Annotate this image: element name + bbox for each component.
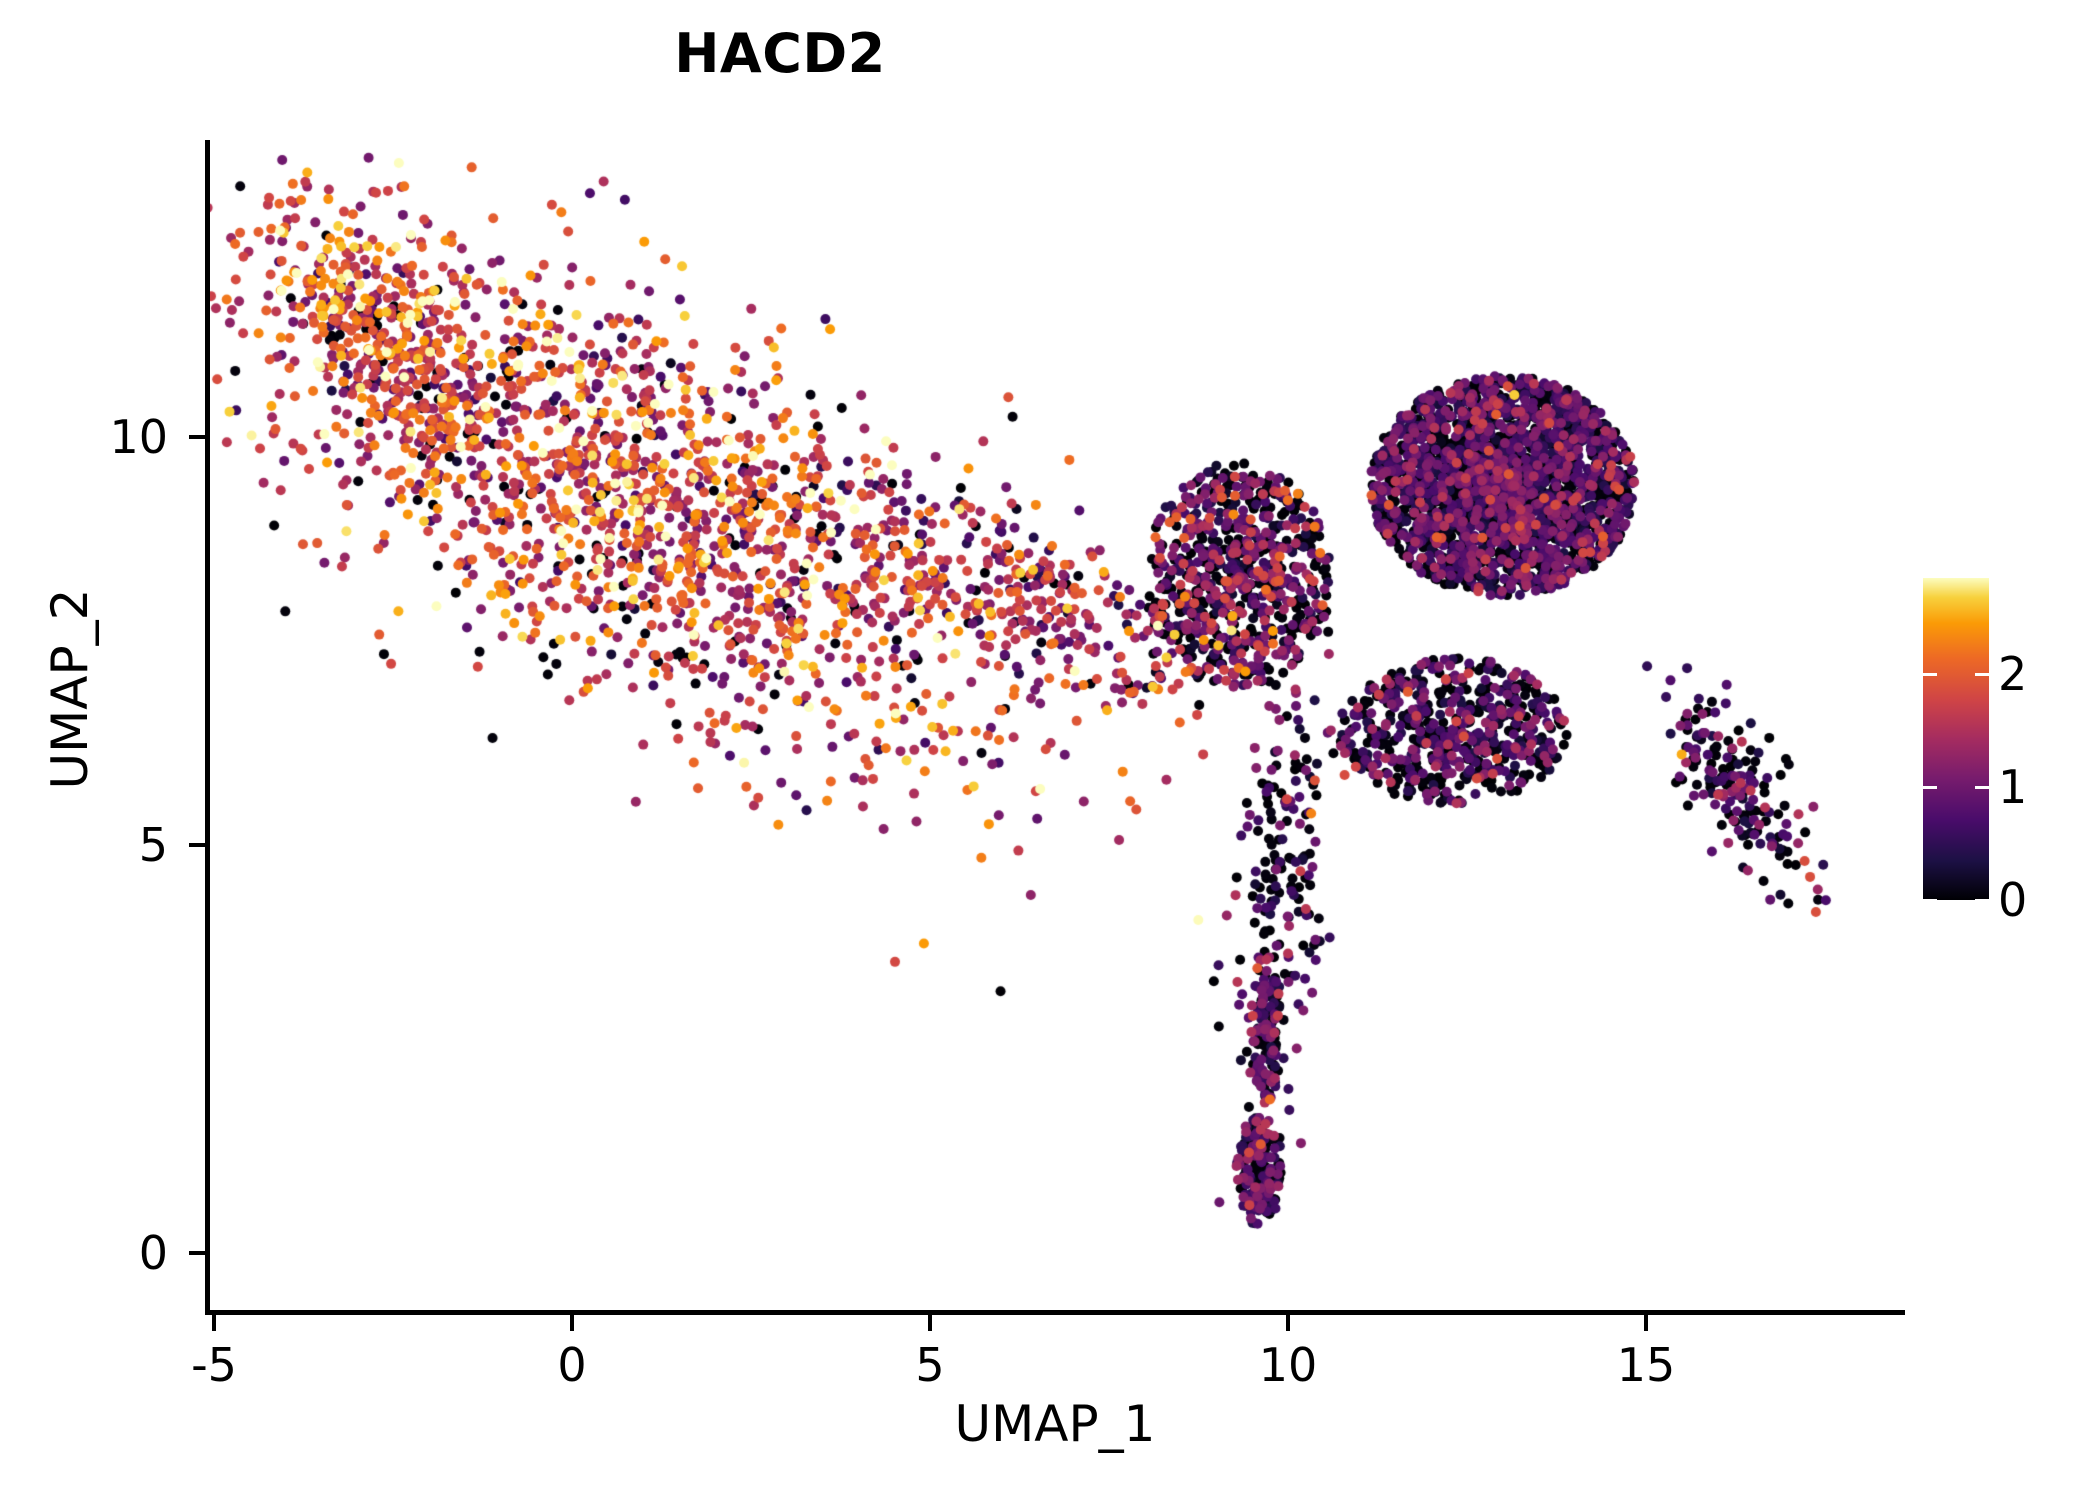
x-tick-label: 15	[1617, 1338, 1676, 1392]
colorbar	[1923, 578, 1989, 900]
colorbar-tick-mark	[1975, 673, 1989, 676]
x-tick-label: -5	[191, 1338, 237, 1392]
y-axis-spine	[205, 140, 210, 1315]
x-axis-label: UMAP_1	[205, 1395, 1905, 1453]
y-axis-label: UMAP_2	[41, 289, 99, 1089]
y-tick-mark	[189, 435, 205, 439]
y-tick-mark	[189, 843, 205, 847]
colorbar-tick-mark	[1975, 786, 1989, 789]
colorbar-tick-mark	[1923, 786, 1937, 789]
y-tick-mark	[189, 1251, 205, 1255]
colorbar-gradient	[1923, 578, 1989, 900]
x-tick-mark	[928, 1315, 932, 1331]
x-tick-mark	[570, 1315, 574, 1331]
x-axis-spine	[205, 1310, 1905, 1315]
x-tick-label: 5	[915, 1338, 944, 1392]
umap-feature-plot-figure: HACD2 -5051015 0510 UMAP_1 UMAP_2 012	[0, 0, 2100, 1500]
page-title: HACD2	[0, 22, 1560, 85]
colorbar-tick-label: 1	[1998, 760, 2027, 814]
plot-axes-area	[208, 140, 1905, 1310]
y-tick-label: 0	[139, 1226, 168, 1280]
scatter-points-layer	[208, 140, 1905, 1310]
colorbar-tick-label: 0	[1998, 873, 2027, 927]
x-tick-label: 10	[1259, 1338, 1318, 1392]
x-tick-mark	[1286, 1315, 1290, 1331]
colorbar-tick-mark	[1975, 899, 1989, 902]
y-tick-label: 10	[109, 410, 168, 464]
colorbar-tick-mark	[1923, 899, 1937, 902]
colorbar-tick-mark	[1923, 673, 1937, 676]
colorbar-tick-label: 2	[1998, 647, 2027, 701]
x-tick-label: 0	[557, 1338, 586, 1392]
x-tick-mark	[1644, 1315, 1648, 1331]
y-tick-label: 5	[139, 818, 168, 872]
x-tick-mark	[212, 1315, 216, 1331]
